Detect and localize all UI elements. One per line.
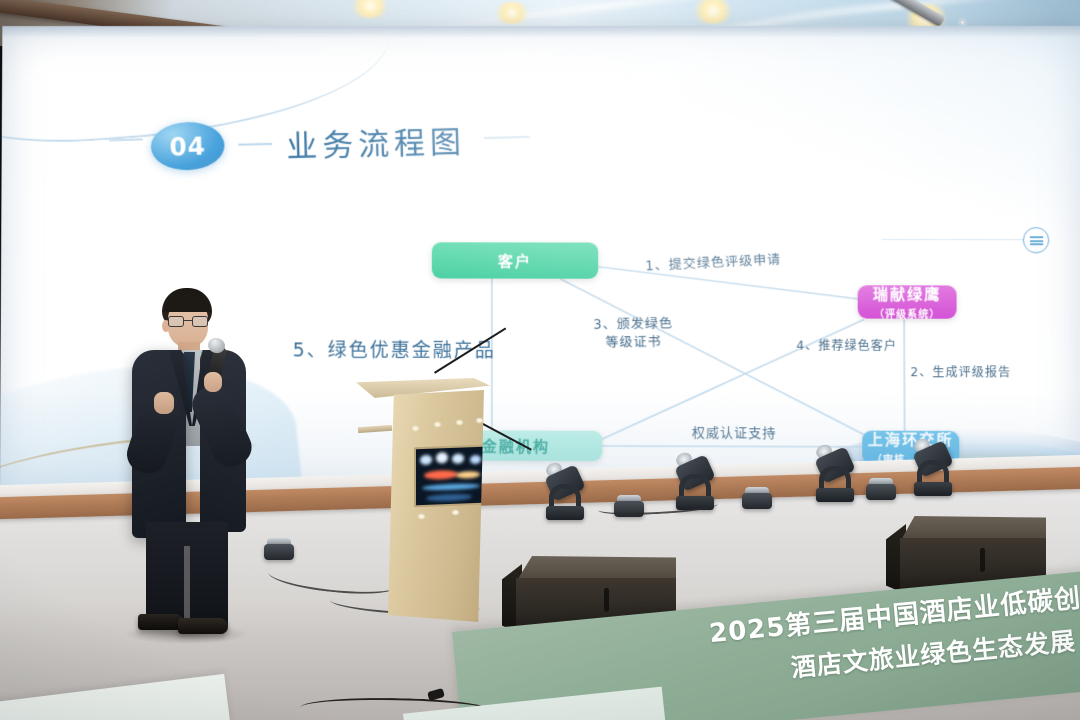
node-sublabel: （评级系统） [874, 305, 941, 320]
lectern-confidence-monitor [414, 445, 486, 508]
lectern-shelf [358, 425, 392, 433]
flow-label-step-3: 3、颁发绿色 等级证书 [573, 315, 694, 352]
par-light [866, 478, 896, 500]
flow-node-rating-system[interactable]: 瑞献绿鹰 （评级系统） [858, 285, 957, 318]
moving-head-light [812, 448, 858, 502]
presenter [118, 288, 246, 648]
flow-node-customer[interactable]: 客户 [432, 242, 598, 278]
flow-label-support: 权威认证支持 [692, 425, 777, 443]
node-label: 客户 [498, 250, 532, 271]
screen-top-edge [2, 26, 1080, 38]
lectern [374, 378, 490, 624]
node-label: 金融机构 [482, 435, 550, 456]
par-light [264, 538, 294, 560]
moving-head-light [542, 466, 588, 520]
shoe [178, 618, 228, 634]
right-hand [204, 372, 222, 392]
flow-label-step-3-line2: 等级证书 [573, 333, 694, 352]
conference-stage-photo: 04 业务流程图 [0, 0, 1080, 720]
ceiling-spot-glow [690, 0, 736, 24]
flow-label-step-4: 4、推荐绿色客户 [796, 338, 897, 355]
flow-label-step-2: 2、生成评级报告 [910, 364, 1011, 381]
par-light [742, 487, 772, 509]
node-label: 瑞献绿鹰 [873, 283, 942, 304]
flow-label-step-3-line1: 3、颁发绿色 [573, 315, 694, 335]
moving-head-light [910, 442, 956, 496]
ceiling-spot-glow [492, 2, 532, 24]
ceiling-spot-glow [348, 0, 392, 18]
ceiling-bolt-icon [960, 20, 965, 25]
left-hand [154, 392, 174, 414]
lectern-body [388, 390, 484, 622]
eyeglasses-icon [168, 316, 208, 327]
